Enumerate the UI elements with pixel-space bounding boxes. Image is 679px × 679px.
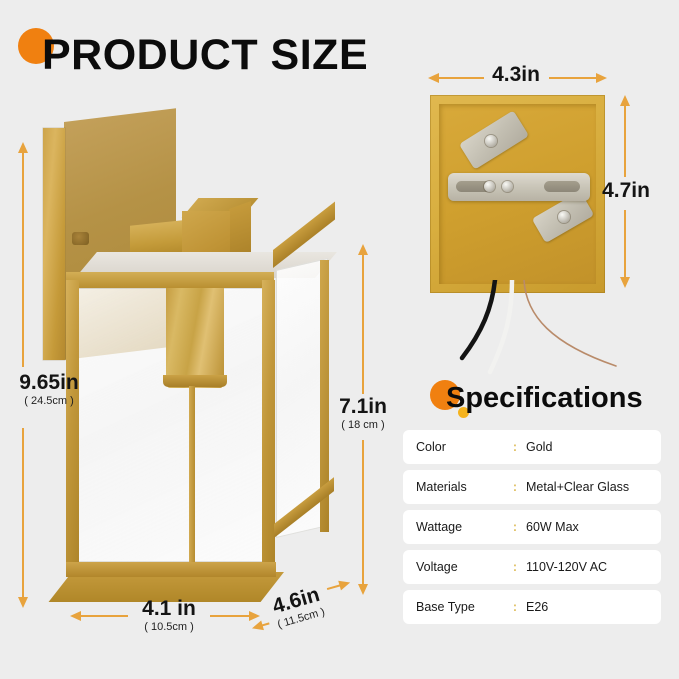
cage-bottom-rail-front [66, 562, 276, 577]
spec-value: Metal+Clear Glass [522, 480, 629, 494]
page-title-block: PRODUCT SIZE [18, 24, 418, 86]
table-row: Base Type : E26 [403, 590, 661, 624]
arrow-down-icon [18, 597, 28, 608]
dimension-line-lower [624, 210, 626, 278]
lantern-top-rail-front [66, 272, 274, 288]
spec-value: E26 [522, 600, 548, 614]
dimension-label-width: 4.1 in ( 10.5cm ) [124, 598, 214, 634]
dimension-label-backplate-width: 4.3in [484, 64, 548, 86]
dimension-line-lower [22, 428, 24, 598]
dimension-line-lower [362, 440, 364, 585]
arrow-left-icon [70, 611, 81, 621]
spec-key: Base Type [403, 600, 508, 614]
crossbar-screw-left-icon [484, 181, 495, 192]
arrow-left-icon [428, 73, 439, 83]
dimension-line-left [81, 615, 128, 617]
spec-value: Gold [522, 440, 552, 454]
spec-value: 60W Max [522, 520, 579, 534]
dimension-line-upper [624, 105, 626, 177]
dimension-line-upper [22, 152, 24, 367]
spec-colon: : [508, 520, 522, 534]
spec-value: 110V-120V AC [522, 560, 607, 574]
cage-post-left [66, 280, 79, 572]
table-row: Wattage : 60W Max [403, 510, 661, 544]
crossbar-bracket [448, 173, 590, 201]
wall-plate-edge [43, 128, 65, 360]
bulb-stem [189, 386, 195, 564]
wall-plate-screw [72, 232, 89, 245]
backplate-illustration [430, 95, 605, 293]
black-wire [462, 280, 495, 358]
strap-screw-upper-icon [485, 135, 497, 147]
spec-key: Color [403, 440, 508, 454]
arrow-down-icon [358, 584, 368, 595]
strap-screw-lower-icon [558, 211, 570, 223]
arrow-left-icon [251, 620, 264, 633]
page-title: PRODUCT SIZE [42, 24, 368, 86]
spec-key: Wattage [403, 520, 508, 534]
bulb-socket-housing [166, 280, 224, 388]
arrow-right-icon [338, 578, 351, 591]
dimension-line-left [439, 77, 484, 79]
infographic-canvas: PRODUCT SIZE 9.65in ( 24.5cm ) [0, 0, 679, 679]
copper-ground-wire [524, 280, 616, 366]
table-row: Voltage : 110V-120V AC [403, 550, 661, 584]
dimension-line-upper [362, 254, 364, 394]
crossbar-screw-right-icon [502, 181, 513, 192]
spec-key: Materials [403, 480, 508, 494]
dimension-label-backplate-height: 4.7in [597, 180, 655, 202]
spec-colon: : [508, 560, 522, 574]
spec-colon: : [508, 480, 522, 494]
dimension-label-height: 9.65in ( 24.5cm ) [0, 372, 104, 408]
arrow-down-icon [620, 277, 630, 288]
specifications-table: Color : Gold Materials : Metal+Clear Gla… [403, 430, 661, 630]
table-row: Color : Gold [403, 430, 661, 464]
spec-colon: : [508, 600, 522, 614]
spec-colon: : [508, 440, 522, 454]
table-row: Materials : Metal+Clear Glass [403, 470, 661, 504]
wire-bundle [420, 280, 650, 380]
dimension-line-right [549, 77, 597, 79]
crossbar-slot-right [544, 181, 580, 192]
dimension-line-right [210, 615, 250, 617]
arrow-right-icon [596, 73, 607, 83]
dimension-label-lantern-height: 7.1in ( 18 cm ) [332, 396, 394, 432]
spec-key: Voltage [403, 560, 508, 574]
product-illustration [30, 120, 360, 600]
specifications-heading-block: Specifications [430, 378, 670, 420]
specifications-title: Specifications [446, 378, 643, 418]
bulb-socket-lip [163, 375, 227, 387]
